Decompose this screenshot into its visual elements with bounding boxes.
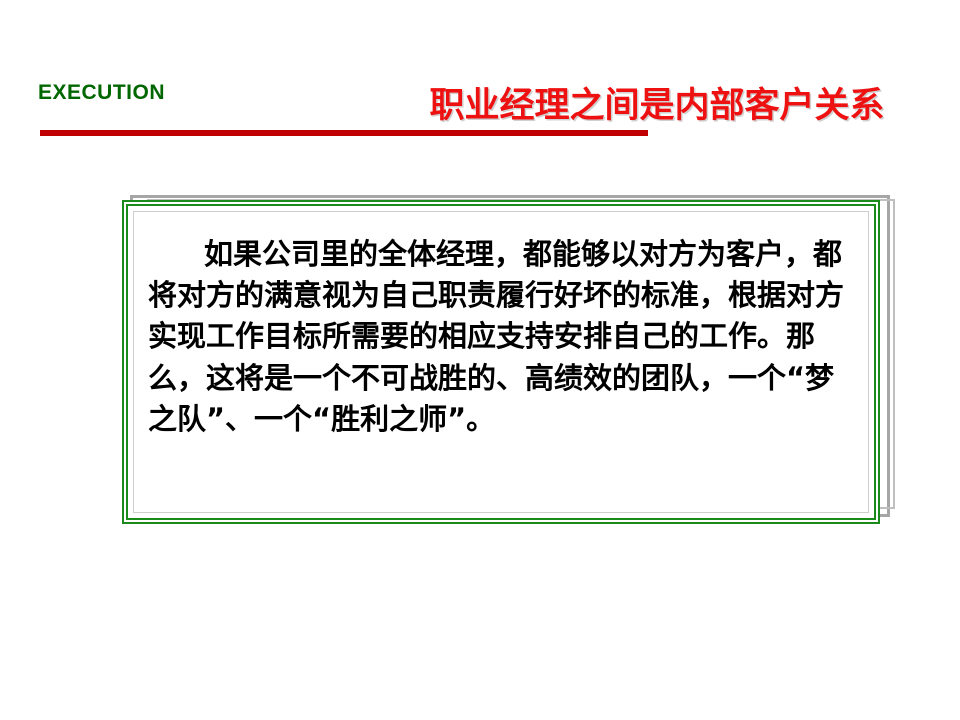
quote-body-text: 如果公司里的全体经理，都能够以对方为客户，都将对方的满意视为自己职责履行好坏的标… [148, 234, 856, 440]
quote-panel: 如果公司里的全体经理，都能够以对方为客户，都将对方的满意视为自己职责履行好坏的标… [122, 200, 890, 526]
quote-box: 如果公司里的全体经理，都能够以对方为客户，都将对方的满意视为自己职责履行好坏的标… [122, 200, 880, 524]
section-kicker-label: EXECUTION [38, 82, 165, 103]
slide-header: EXECUTION 职业经理之间是内部客户关系 [0, 0, 960, 160]
page-title: 职业经理之间是内部客户关系 [370, 86, 944, 126]
slide-canvas: EXECUTION 职业经理之间是内部客户关系 如果公司里的全体经理，都能够以对… [0, 0, 960, 720]
quote-box-inner-border: 如果公司里的全体经理，都能够以对方为客户，都将对方的满意视为自己职责履行好坏的标… [133, 211, 869, 513]
header-divider-rule [40, 130, 648, 136]
